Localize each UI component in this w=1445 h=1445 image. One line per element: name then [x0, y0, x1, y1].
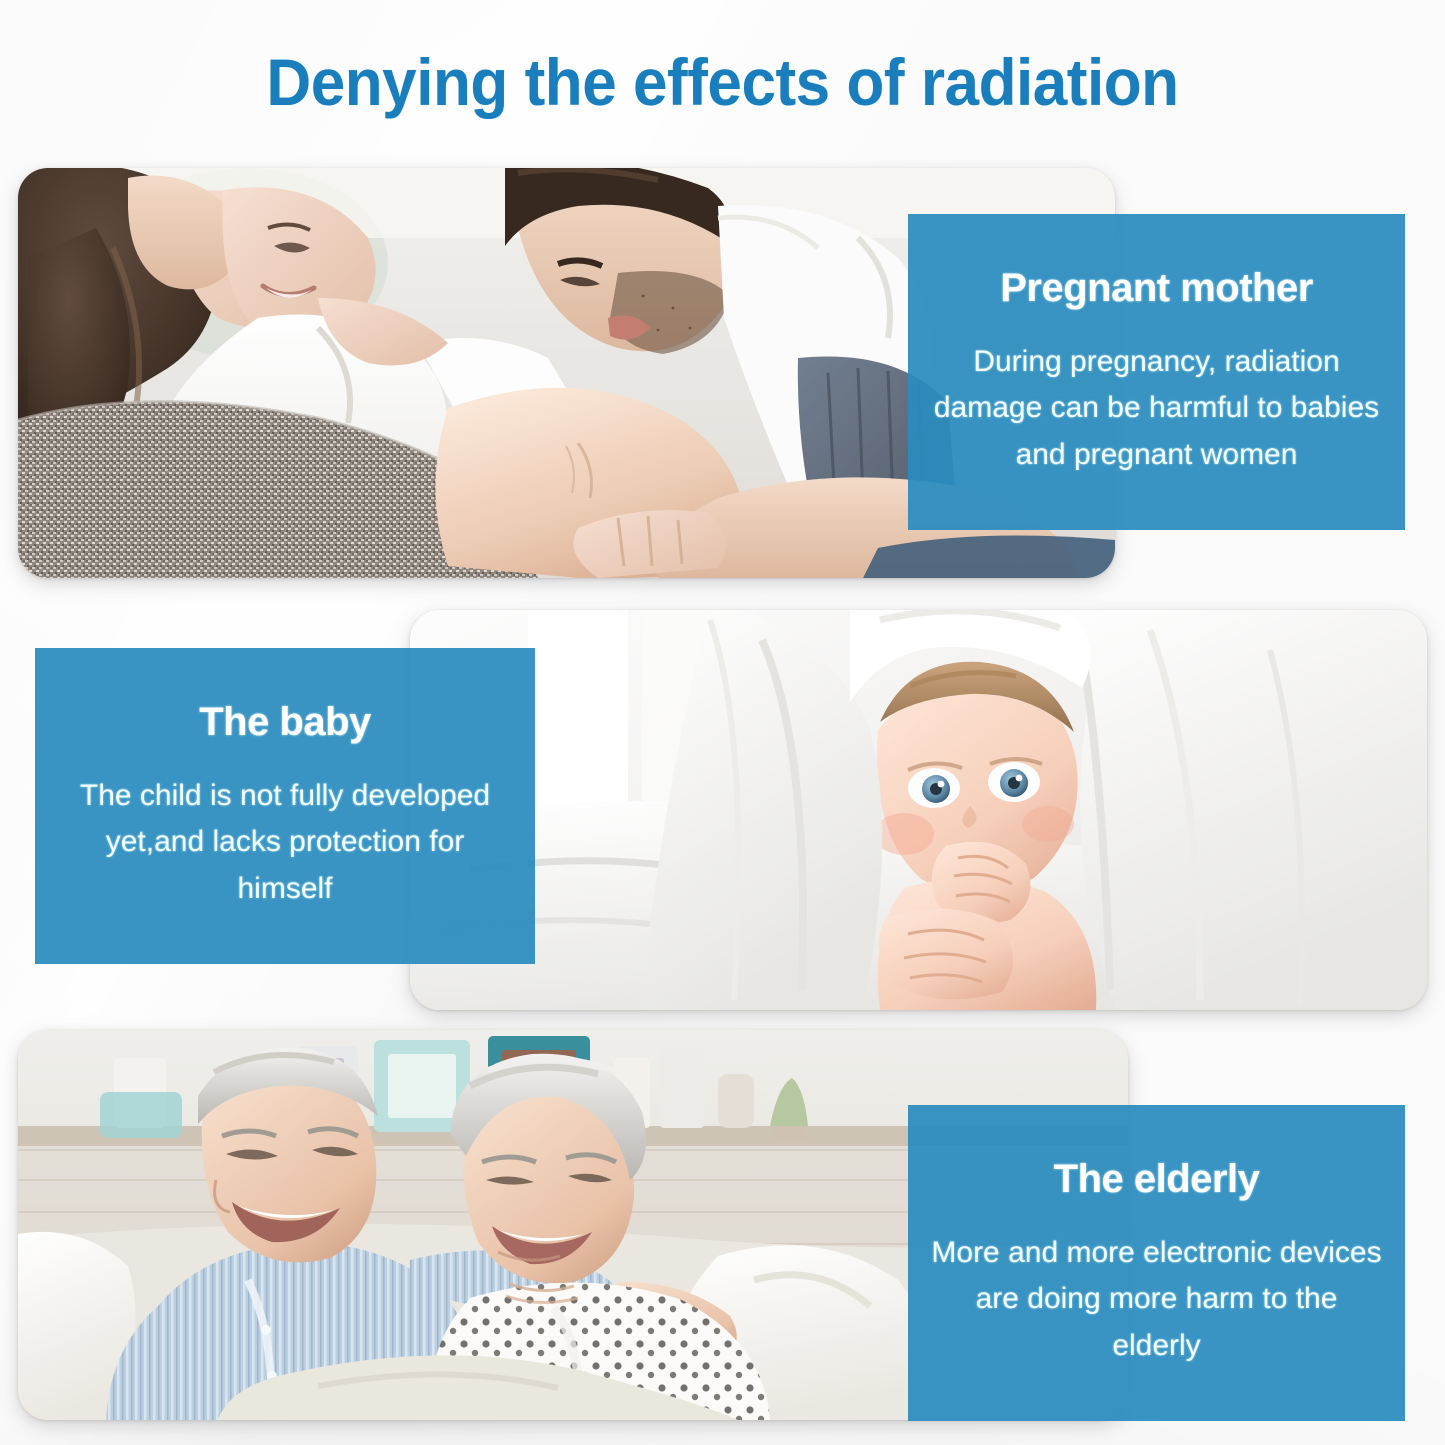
pregnant-text-panel: Pregnant mother During pregnancy, radiat… [908, 214, 1405, 530]
baby-heading: The baby [55, 700, 515, 745]
baby-under-blanket-photo [410, 610, 1427, 1010]
pregnant-body: During pregnancy, radiation damage can b… [928, 339, 1385, 479]
elderly-text-panel: The elderly More and more electronic dev… [908, 1105, 1405, 1421]
baby-body: The child is not fully developed yet,and… [55, 773, 515, 913]
elderly-heading: The elderly [928, 1157, 1385, 1202]
pregnant-heading: Pregnant mother [928, 266, 1385, 311]
baby-text-panel: The baby The child is not fully develope… [35, 648, 535, 964]
baby-photo-card [410, 610, 1427, 1010]
page-title: Denying the effects of radiation [43, 44, 1401, 120]
elderly-body: More and more electronic devices are doi… [928, 1230, 1385, 1370]
